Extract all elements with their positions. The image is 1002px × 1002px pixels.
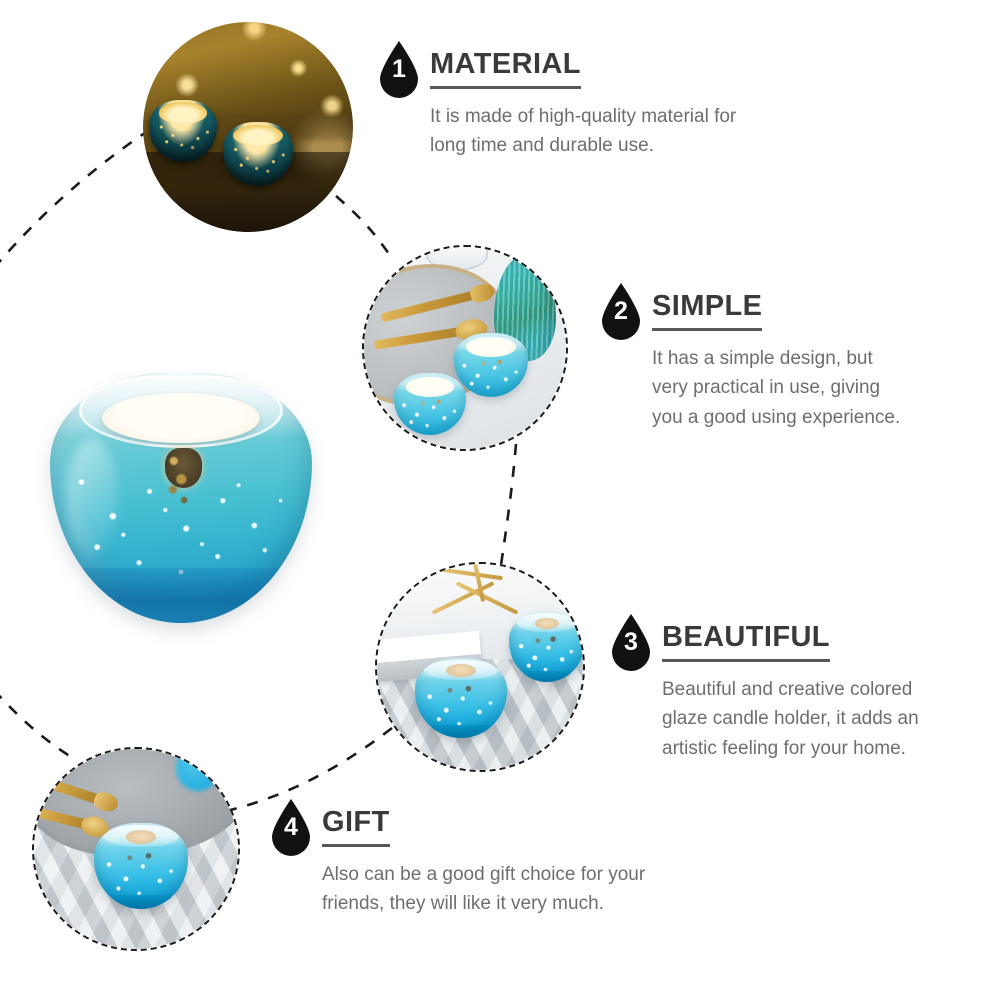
geo-holder-front-base — [432, 725, 491, 738]
feature-body-material: It is made of high-quality material for … — [430, 102, 860, 161]
place-setting-holder-speckles — [94, 852, 188, 900]
feature-block-beautiful: BEAUTIFUL Beautiful and creative colored… — [662, 623, 992, 763]
photo-4-inner — [34, 749, 238, 949]
hero-highlight — [66, 438, 118, 558]
table-holder-center — [454, 333, 528, 397]
warm-candlelit-scene — [143, 22, 353, 232]
step-number-3: 3 — [608, 630, 654, 655]
photo-2-inner — [364, 247, 566, 449]
geo-holder-back-speckles — [509, 636, 583, 675]
place-setting-holder-base — [111, 895, 171, 909]
place-setting-holder-wick — [126, 830, 156, 844]
hero-gold-flecks — [155, 448, 202, 513]
photo-pair-on-geometric-cloth — [375, 562, 585, 772]
feature-title-material: MATERIAL — [430, 50, 581, 89]
hero-base-shading — [66, 568, 297, 623]
photo-table-setting-cutlery — [362, 245, 568, 451]
warm-greenery-sprig — [145, 162, 207, 204]
feature-body-gift: Also can be a good gift choice for your … — [322, 860, 752, 919]
gold-wire-ornament — [429, 570, 521, 622]
warm-speckles-left — [149, 120, 217, 152]
table-setting-scene — [364, 247, 566, 449]
geo-holder-back-base — [523, 671, 572, 682]
step-number-2: 2 — [598, 299, 644, 324]
wire-segment — [473, 564, 485, 602]
feature-body-beautiful: Beautiful and creative colored glaze can… — [662, 675, 992, 763]
geo-holder-back-wick — [535, 618, 559, 629]
geo-holder-front — [415, 658, 507, 738]
step-badge-3: 3 — [608, 613, 654, 675]
step-number-1: 1 — [376, 57, 422, 82]
arc-photo2-to-photo3 — [500, 444, 516, 572]
feature-block-material: MATERIAL It is made of high-quality mate… — [430, 50, 860, 161]
photo-single-holder-place-setting — [32, 747, 240, 951]
place-setting-scene — [34, 749, 238, 949]
feature-title-beautiful: BEAUTIFUL — [662, 623, 830, 662]
table-holder-front-speckles — [394, 397, 466, 432]
feature-block-gift: GIFT Also can be a good gift choice for … — [322, 808, 752, 919]
step-badge-4: 4 — [268, 798, 314, 860]
feature-block-simple: SIMPLE It has a simple design, but very … — [652, 292, 992, 432]
step-badge-1: 1 — [376, 40, 422, 102]
step-badge-2: 2 — [598, 282, 644, 344]
table-holder-front-wax — [406, 377, 455, 397]
main-product-photo — [50, 363, 312, 623]
photo-3-inner — [377, 564, 583, 770]
feature-body-simple: It has a simple design, but very practic… — [652, 344, 992, 432]
geo-holder-back — [509, 612, 583, 682]
hero-glass-body — [50, 373, 312, 623]
table-holder-center-speckles — [454, 357, 528, 393]
geo-holder-front-wick — [446, 664, 475, 677]
wire-segment — [441, 568, 503, 581]
photo-candlelit-pair-warm — [143, 22, 353, 232]
infographic-canvas: 1 2 3 4 MATERIAL It is made of high-qual… — [0, 0, 1002, 1002]
hero-candle-wax — [102, 393, 259, 443]
warm-speckles-right — [223, 142, 293, 175]
geo-holder-front-speckles — [415, 685, 507, 730]
place-setting-holder — [94, 823, 188, 909]
step-number-4: 4 — [268, 815, 314, 840]
feature-title-simple: SIMPLE — [652, 292, 762, 331]
table-holder-front — [394, 373, 466, 435]
photo-1-inner — [143, 22, 353, 232]
feature-title-gift: GIFT — [322, 808, 390, 847]
table-holder-center-wax — [466, 337, 516, 357]
geometric-cloth-scene — [377, 564, 583, 770]
